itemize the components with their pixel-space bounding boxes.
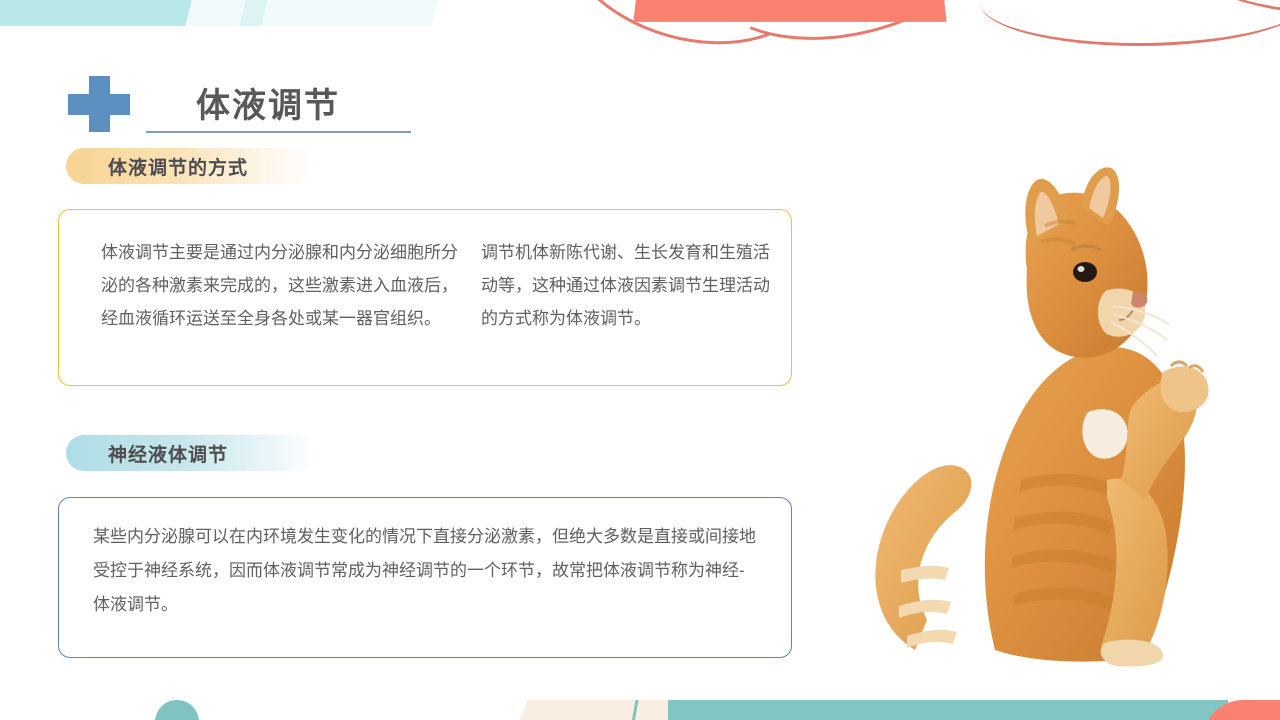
decoration-bottom-teal-band [668, 700, 1228, 720]
decoration-top-right-coral-block [633, 0, 946, 22]
orange-tabby-cat-image [845, 150, 1265, 670]
section-badge-neuro-humoral-regulation: 神经液体调节 [66, 435, 316, 471]
decoration-top-left-cyan-stripe-2 [239, 0, 288, 26]
badge-label: 神经液体调节 [108, 440, 228, 467]
decoration-bottom-teal-halfcircle [155, 700, 199, 720]
decoration-top-left-cyan-stripe-1 [185, 0, 266, 26]
medical-cross-icon [68, 76, 130, 132]
slide-header: 体液调节 [0, 34, 1280, 106]
decoration-top-left-cyan [0, 0, 210, 26]
page-title: 体液调节 [196, 78, 340, 127]
paragraph-full-width: 某些内分泌腺可以在内环境发生变化的情况下直接分泌激素，但绝大多数是直接或间接地受… [59, 498, 791, 622]
section-badge-fluid-regulation-method: 体液调节的方式 [66, 148, 316, 184]
paragraph-column-right: 调节机体新陈代谢、生长发育和生殖活动等，这种通过体液因素调节生理活动的方式称为体… [459, 236, 779, 385]
decoration-top-left-cyan-stripe-3 [261, 0, 452, 26]
slide-canvas: 体液调节 体液调节的方式 体液调节主要是通过内分泌腺和内分泌细胞所分泌的各种激素… [0, 0, 1280, 720]
decoration-bottom-cream-band [513, 700, 1028, 720]
title-underline [146, 131, 411, 133]
decoration-bottom-coral-corner [1203, 700, 1280, 720]
decoration-top-right-wave-2 [1180, 0, 1280, 14]
badge-label: 体液调节的方式 [108, 153, 248, 180]
paragraph-column-left: 体液调节主要是通过内分泌腺和内分泌细胞所分泌的各种激素来完成的，这些激素进入血液… [59, 236, 459, 385]
content-box-neuro-humoral-regulation: 某些内分泌腺可以在内环境发生变化的情况下直接分泌激素，但绝大多数是直接或间接地受… [58, 497, 792, 658]
decoration-bottom-teal-line [628, 700, 638, 720]
content-box-fluid-regulation-method: 体液调节主要是通过内分泌腺和内分泌细胞所分泌的各种激素来完成的，这些激素进入血液… [58, 209, 792, 386]
